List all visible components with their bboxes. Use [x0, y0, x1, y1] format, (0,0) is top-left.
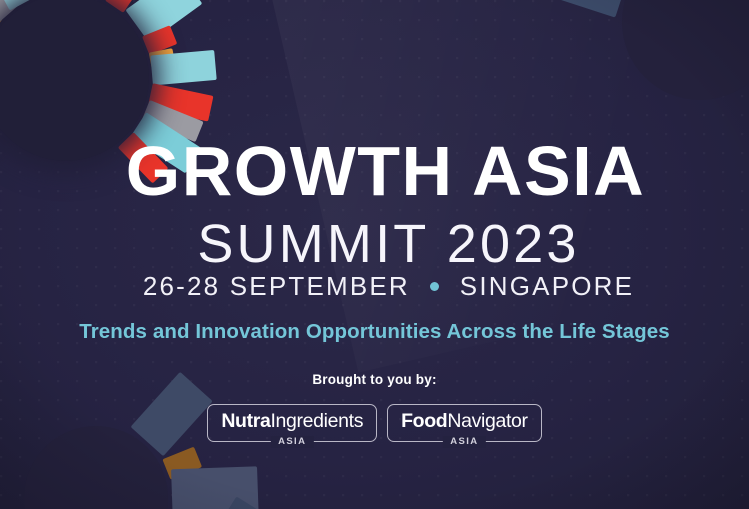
brought-to-you-by-label: Brought to you by:: [0, 372, 749, 388]
sponsor-wordmark-light: Ingredients: [270, 410, 363, 432]
sponsor-logo-group: NutraIngredients ASIA FoodNavigator ASIA: [0, 404, 749, 442]
event-title: GROWTH ASIA: [0, 136, 749, 206]
sponsor-region-label: ASIA: [443, 436, 485, 448]
event-dates: 26-28 SEPTEMBER: [143, 271, 410, 301]
sponsor-wordmark: FoodNavigator: [401, 411, 528, 431]
sponsor-region-label: ASIA: [271, 436, 313, 448]
event-location: SINGAPORE: [460, 271, 634, 301]
event-subtitle: SUMMIT 2023: [0, 216, 749, 272]
event-tagline: Trends and Innovation Opportunities Acro…: [0, 320, 749, 344]
event-dateline: 26-28 SEPTEMBER SINGAPORE: [0, 272, 749, 300]
sponsor-wordmark-bold: Nutra: [221, 410, 270, 432]
sponsor-wordmark-light: Navigator: [447, 410, 527, 432]
bullet-separator-icon: [430, 282, 439, 291]
event-banner: GROWTH ASIA SUMMIT 2023 26-28 SEPTEMBER …: [0, 0, 749, 509]
sponsor-logo-foodnavigator[interactable]: FoodNavigator ASIA: [387, 404, 542, 442]
sponsor-wordmark: NutraIngredients: [221, 411, 363, 431]
banner-content: GROWTH ASIA SUMMIT 2023 26-28 SEPTEMBER …: [0, 0, 749, 509]
sponsor-logo-nutraingredients[interactable]: NutraIngredients ASIA: [207, 404, 377, 442]
sponsor-wordmark-bold: Food: [401, 410, 447, 432]
